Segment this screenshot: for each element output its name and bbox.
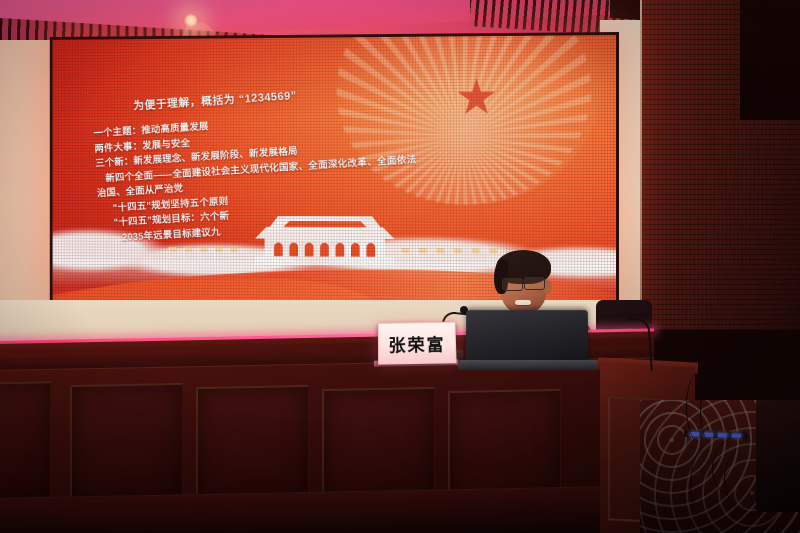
power-strip-led	[718, 433, 727, 437]
floor-loudspeaker	[756, 400, 800, 512]
eyeglasses-lens-right	[524, 277, 545, 290]
ceiling-spotlight	[183, 14, 199, 27]
laptop-screen	[466, 310, 588, 364]
wall-dark-corner	[740, 0, 800, 120]
eyeglasses-lens-left	[502, 278, 523, 291]
flag-row-left	[165, 247, 250, 261]
podium-panel	[196, 385, 309, 509]
podium-panel	[0, 381, 51, 505]
eyeglasses-bridge	[520, 281, 525, 282]
cable	[690, 444, 731, 524]
microphone-gooseneck-right	[625, 317, 653, 373]
mouth	[515, 300, 531, 305]
cable	[700, 378, 721, 442]
laptop-base	[458, 360, 598, 370]
nameplate-name: 张荣富	[388, 330, 445, 356]
nameplate: 张荣富	[378, 322, 457, 365]
podium-panel	[70, 383, 183, 507]
lecture-hall-photo: 为便于理解，概括为 “1234569” 一个主题：推动高质量发展 两件大事：发展…	[0, 0, 800, 533]
